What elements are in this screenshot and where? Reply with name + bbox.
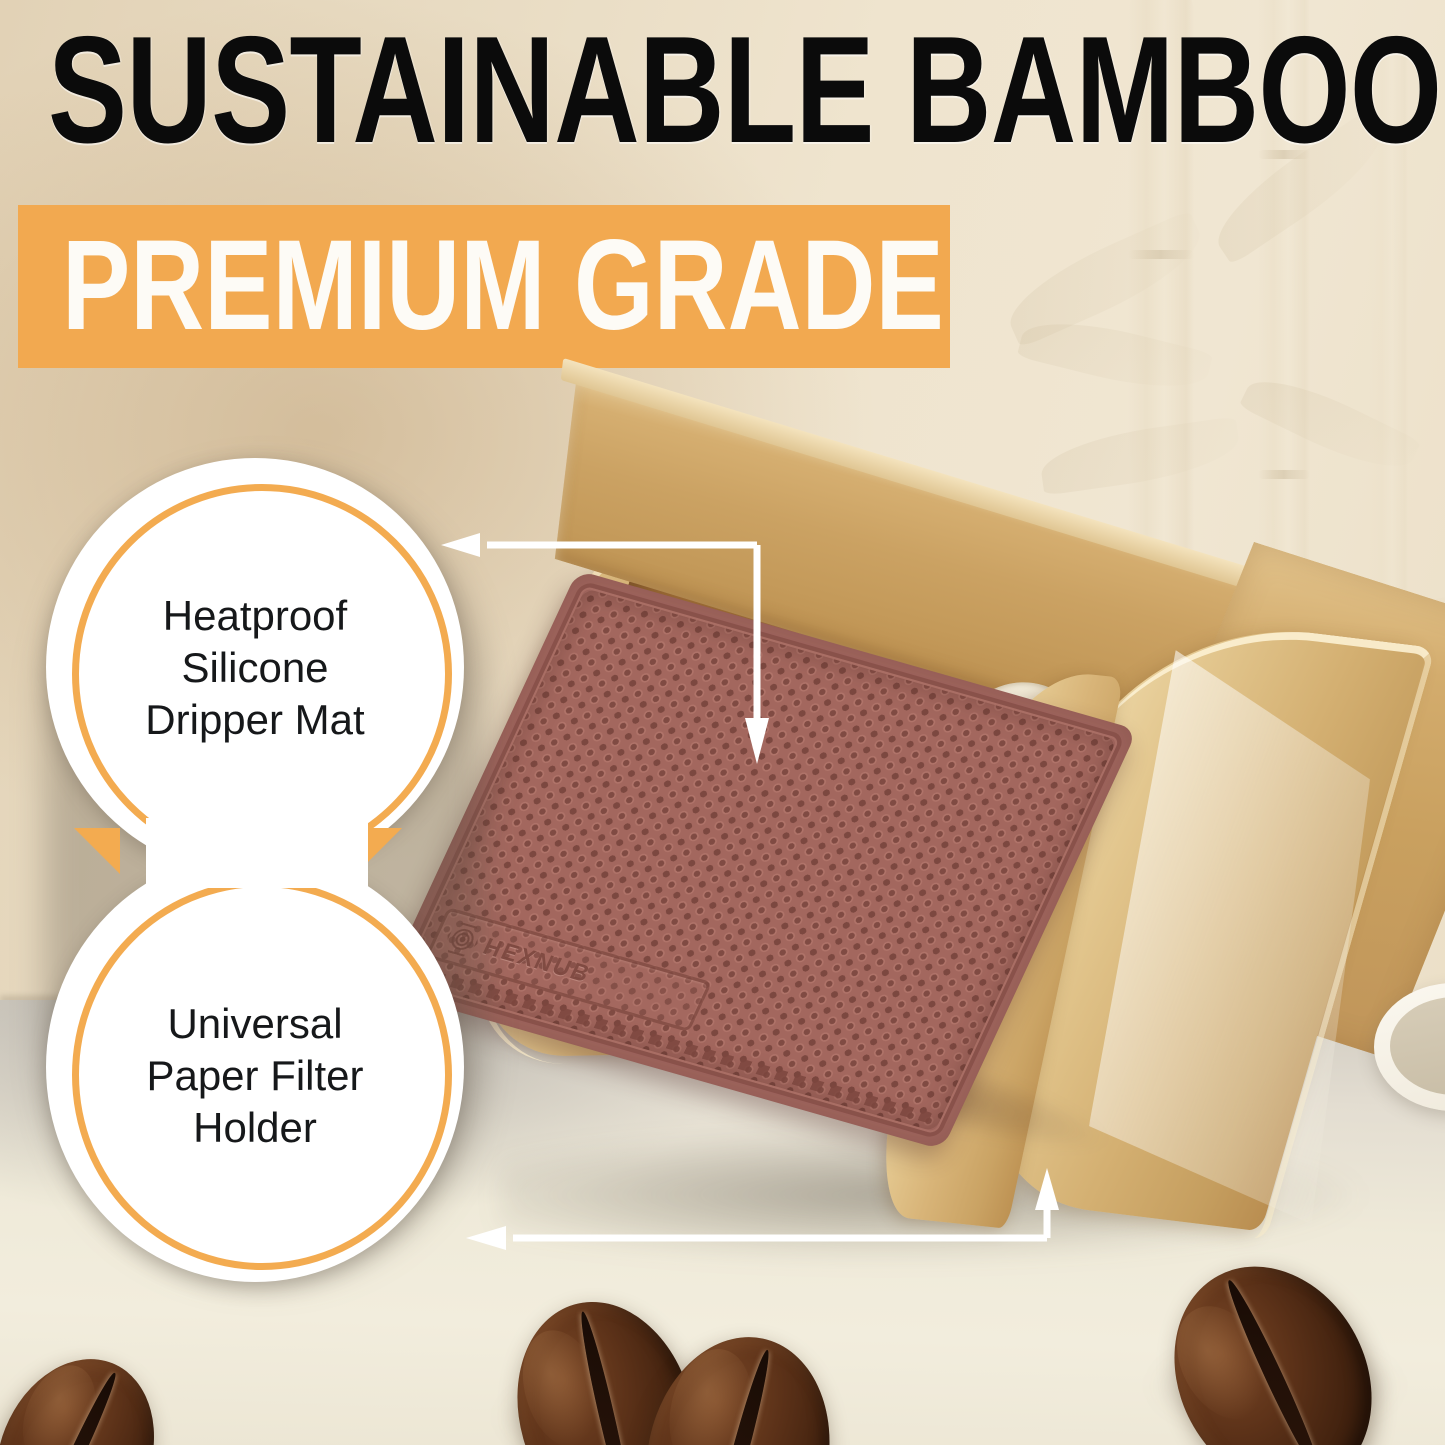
infographic-canvas: SUSTAINABLE BAMBOO PREMIUM GRADE: [0, 0, 1445, 1445]
bubble-pinch-left: [74, 828, 120, 874]
callout-top-line1: Heatproof: [90, 590, 420, 642]
page-title-line2: PREMIUM GRADE: [62, 222, 942, 350]
callout-bottom-line2: Paper Filter: [90, 1050, 420, 1102]
callout-text-top: Heatproof Silicone Dripper Mat: [90, 590, 420, 746]
product-image-bamboo-filter-holder: HEXNUB: [470, 470, 1445, 1260]
callout-top-line2: Silicone: [90, 642, 420, 694]
callout-bottom-line1: Universal: [90, 998, 420, 1050]
callout-bubble-group: Heatproof Silicone Dripper Mat Universal…: [28, 452, 498, 1292]
callout-text-bottom: Universal Paper Filter Holder: [90, 998, 420, 1154]
callout-bottom-line3: Holder: [90, 1102, 420, 1154]
callout-top-line3: Dripper Mat: [90, 694, 420, 746]
bubble-pinch-cover: [146, 818, 368, 888]
page-title-line1: SUSTAINABLE BAMBOO: [48, 14, 1062, 166]
